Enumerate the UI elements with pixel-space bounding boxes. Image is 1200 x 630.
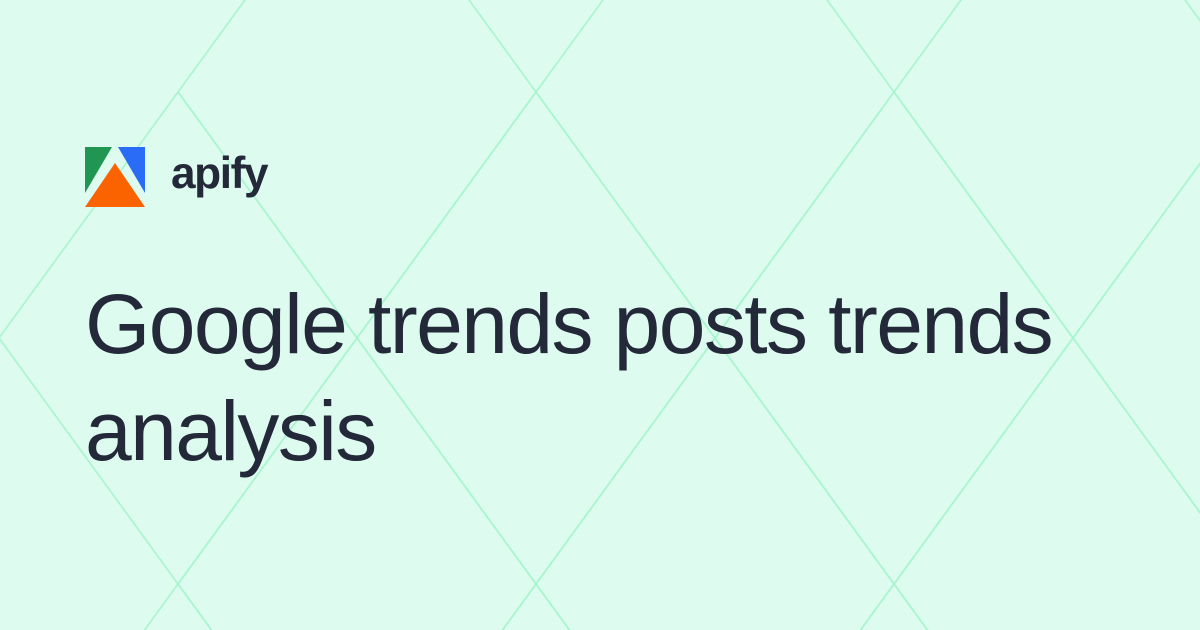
page-title: Google trends posts trends analysis bbox=[85, 271, 1115, 485]
card-content: apify Google trends posts trends analysi… bbox=[85, 0, 1145, 630]
apify-logo-icon bbox=[85, 147, 145, 207]
og-card: apify Google trends posts trends analysi… bbox=[0, 0, 1200, 630]
brand-lockup: apify bbox=[85, 145, 1145, 209]
apify-wordmark: apify bbox=[171, 154, 309, 200]
apify-wordmark-text: apify bbox=[171, 154, 269, 198]
